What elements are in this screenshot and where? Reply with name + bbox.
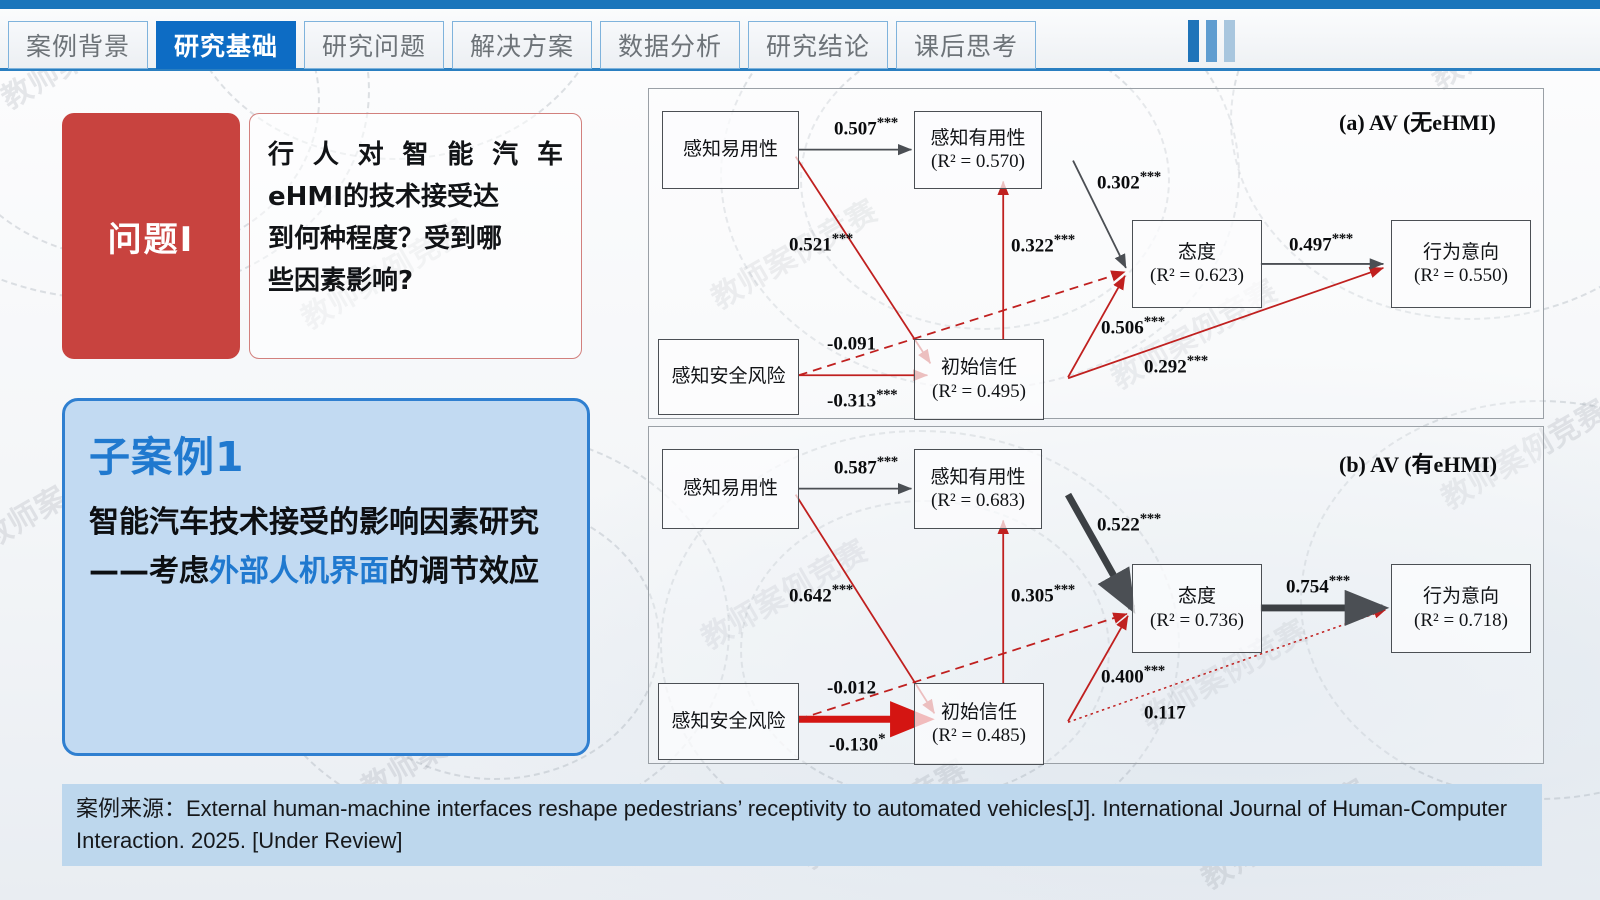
node-perceived-ease-of-use: 感知易用性 — [662, 449, 799, 529]
tab-solution[interactable]: 解决方案 — [452, 21, 592, 69]
edge-stars: *** — [877, 115, 898, 131]
edge-value: 0.292 — [1144, 356, 1187, 377]
edge-value: -0.313 — [827, 390, 876, 411]
node-label: 初始信任 — [941, 701, 1017, 724]
edge-stars: *** — [1144, 663, 1165, 679]
tab-conclusion[interactable]: 研究结论 — [748, 21, 888, 69]
tab-label: 案例背景 — [26, 27, 130, 63]
question-block: 问题Ⅰ 行人对智能汽车 eHMI的技术接受达 到何种程度？受到哪 些因素影响? — [62, 113, 582, 359]
node-label: 行为意向 — [1423, 585, 1499, 608]
node-perceived-safety-risk: 感知安全风险 — [658, 683, 799, 760]
edge-value: 0.506 — [1101, 317, 1144, 338]
question-text-card: 行人对智能汽车 eHMI的技术接受达 到何种程度？受到哪 些因素影响? — [249, 113, 582, 359]
edge-stars: *** — [832, 582, 853, 598]
edge-value: 0.400 — [1101, 666, 1144, 687]
tab-after-class-reflection[interactable]: 课后思考 — [896, 21, 1036, 69]
tab-label: 研究基础 — [174, 27, 278, 63]
edge-value: 0.587 — [834, 457, 877, 478]
node-r2: (R² = 0.718) — [1414, 609, 1508, 632]
edge-stars: *** — [1144, 314, 1165, 330]
question-line: 行人对智能汽车 — [268, 134, 563, 176]
node-behavioral-intention: 行为意向 (R² = 0.718) — [1391, 564, 1531, 653]
edge-value: 0.117 — [1144, 702, 1186, 723]
edge-stars: *** — [832, 231, 853, 247]
tab-list: 案例背景 研究基础 研究问题 解决方案 数据分析 研究结论 课后思考 — [8, 21, 1036, 69]
edge-label-pu-att: 0.302*** — [1097, 169, 1161, 194]
edge-stars: *** — [1140, 511, 1161, 527]
tab-label: 研究问题 — [322, 27, 426, 63]
diagram-panel-a: 感知易用性 感知有用性 (R² = 0.570) 感知安全风险 初始信任 (R²… — [648, 88, 1544, 419]
bars-decoration-icon — [1188, 20, 1235, 62]
edge-label-psr-att: -0.091 — [827, 330, 876, 355]
node-label: 态度 — [1178, 585, 1216, 608]
node-label: 感知易用性 — [683, 477, 778, 500]
edge-value: -0.130 — [829, 734, 878, 755]
question-badge: 问题Ⅰ — [62, 113, 240, 359]
edge-label-it-att: 0.506*** — [1101, 314, 1165, 339]
node-perceived-usefulness: 感知有用性 (R² = 0.683) — [914, 449, 1042, 529]
edge-label-peou-pu: 0.587*** — [834, 454, 898, 479]
edge-stars: *** — [1140, 169, 1161, 185]
node-behavioral-intention: 行为意向 (R² = 0.550) — [1391, 220, 1531, 308]
node-r2: (R² = 0.623) — [1150, 264, 1244, 287]
node-r2: (R² = 0.570) — [931, 150, 1025, 173]
top-accent-strip — [0, 0, 1600, 9]
edge-value: 0.305 — [1011, 585, 1054, 606]
node-r2: (R² = 0.485) — [932, 724, 1026, 747]
edge-label-it-bi: 0.292*** — [1144, 353, 1208, 378]
subcase-body-post: 的调节效应 — [389, 554, 539, 589]
tab-data-analysis[interactable]: 数据分析 — [600, 21, 740, 69]
edge-label-it-pu: 0.305*** — [1011, 582, 1075, 607]
tab-bar: 案例背景 研究基础 研究问题 解决方案 数据分析 研究结论 课后思考 — [0, 9, 1600, 71]
node-perceived-ease-of-use: 感知易用性 — [662, 111, 799, 189]
node-r2: (R² = 0.736) — [1150, 609, 1244, 632]
edge-label-att-bi: 0.754*** — [1286, 573, 1350, 598]
node-attitude: 态度 (R² = 0.736) — [1132, 564, 1262, 653]
source-text: 案例来源：External human-machine interfaces r… — [76, 793, 1528, 857]
edge-stars: *** — [1329, 573, 1350, 589]
node-r2: (R² = 0.495) — [932, 380, 1026, 403]
node-perceived-safety-risk: 感知安全风险 — [658, 339, 799, 415]
edge-label-peou-it: 0.521*** — [789, 231, 853, 256]
node-label: 感知安全风险 — [671, 365, 785, 388]
subcase-title: 子案例1 — [89, 423, 563, 483]
edge-value: 0.302 — [1097, 172, 1140, 193]
edge-stars: *** — [1054, 232, 1075, 248]
node-label: 感知易用性 — [683, 138, 778, 161]
edge-label-att-bi: 0.497*** — [1289, 231, 1353, 256]
edge-stars: * — [878, 731, 885, 747]
edge-value: 0.642 — [789, 585, 832, 606]
node-initial-trust: 初始信任 (R² = 0.485) — [914, 683, 1044, 765]
question-line: eHMI的技术接受达 — [268, 176, 563, 218]
node-label: 感知安全风险 — [671, 710, 785, 733]
node-label: 态度 — [1178, 241, 1216, 264]
edge-value: -0.091 — [827, 333, 876, 354]
edge-label-it-pu: 0.322*** — [1011, 232, 1075, 257]
edge-value: 0.754 — [1286, 576, 1329, 597]
slide-canvas: 教师案例竞赛 教师案例竞赛 教师案例竞赛 教师案例竞赛 教师案例竞赛 教师案例竞… — [0, 0, 1600, 900]
node-r2: (R² = 0.683) — [931, 489, 1025, 512]
edge-stars: *** — [1054, 582, 1075, 598]
diagram-panel-b: 感知易用性 感知有用性 (R² = 0.683) 感知安全风险 初始信任 (R²… — [648, 426, 1544, 764]
tab-research-question[interactable]: 研究问题 — [304, 21, 444, 69]
question-line: 到何种程度？受到哪 — [268, 218, 563, 260]
node-r2: (R² = 0.550) — [1414, 264, 1508, 287]
node-initial-trust: 初始信任 (R² = 0.495) — [914, 339, 1044, 420]
edge-stars: *** — [1332, 231, 1353, 247]
tab-label: 解决方案 — [470, 27, 574, 63]
edge-label-it-bi: 0.117 — [1144, 699, 1186, 724]
subcase-body-highlight: 外部人机界面 — [209, 554, 389, 589]
tab-case-background[interactable]: 案例背景 — [8, 21, 148, 69]
edge-value: 0.507 — [834, 118, 877, 139]
edge-value: -0.012 — [827, 677, 876, 698]
edge-stars: *** — [876, 387, 897, 403]
tab-label: 课后思考 — [914, 27, 1018, 63]
node-perceived-usefulness: 感知有用性 (R² = 0.570) — [914, 111, 1042, 189]
question-badge-label: 问题Ⅰ — [108, 212, 195, 261]
node-attitude: 态度 (R² = 0.623) — [1132, 220, 1262, 308]
panel-b-caption: (b) AV (有eHMI) — [1339, 447, 1497, 479]
source-footer: 案例来源：External human-machine interfaces r… — [62, 784, 1542, 866]
edge-label-pu-att: 0.522*** — [1097, 511, 1161, 536]
edge-value: 0.322 — [1011, 235, 1054, 256]
tab-label: 数据分析 — [618, 27, 722, 63]
edge-label-psr-att: -0.012 — [827, 674, 876, 699]
edge-value: 0.522 — [1097, 514, 1140, 535]
tab-research-basis[interactable]: 研究基础 — [156, 21, 296, 69]
panel-a-caption: (a) AV (无eHMI) — [1339, 105, 1496, 137]
edge-stars: *** — [877, 454, 898, 470]
node-label: 感知有用性 — [930, 127, 1025, 150]
edge-label-it-att: 0.400*** — [1101, 663, 1165, 688]
node-label: 初始信任 — [941, 356, 1017, 379]
edge-value: 0.497 — [1289, 234, 1332, 255]
edge-stars: *** — [1187, 353, 1208, 369]
question-line: 些因素影响? — [268, 260, 563, 302]
subcase-card: 子案例1 智能汽车技术接受的影响因素研究——考虑外部人机界面的调节效应 — [62, 398, 590, 756]
edge-label-peou-pu: 0.507*** — [834, 115, 898, 140]
edge-label-peou-it: 0.642*** — [789, 582, 853, 607]
tab-label: 研究结论 — [766, 27, 870, 63]
node-label: 感知有用性 — [930, 466, 1025, 489]
subcase-body: 智能汽车技术接受的影响因素研究——考虑外部人机界面的调节效应 — [89, 499, 563, 596]
edge-label-psr-it: -0.130* — [829, 731, 885, 756]
edge-value: 0.521 — [789, 234, 832, 255]
node-label: 行为意向 — [1423, 241, 1499, 264]
edge-label-psr-it: -0.313*** — [827, 387, 897, 412]
